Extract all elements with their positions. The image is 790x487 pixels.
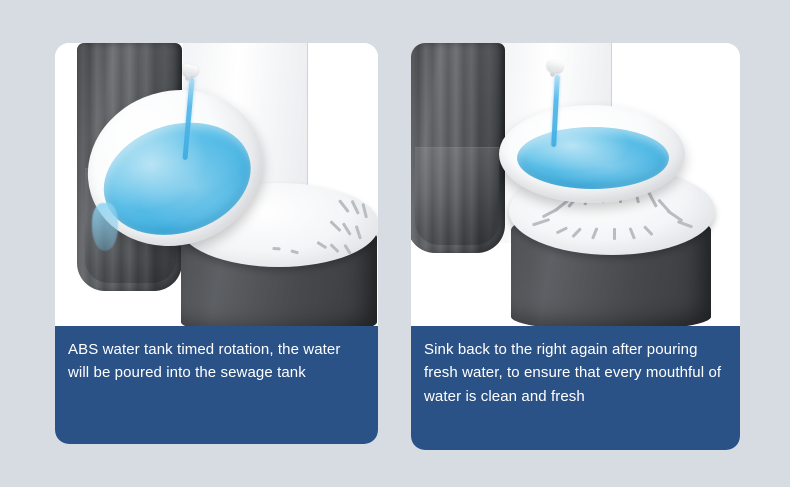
- bowl-water: [517, 127, 669, 189]
- dark-ribbed-water-tank: [411, 43, 505, 253]
- plate-slot: [355, 225, 362, 239]
- plate-slot: [571, 227, 581, 238]
- plate-slot: [629, 227, 636, 239]
- plate-slot: [338, 199, 350, 213]
- plate-slot: [290, 249, 299, 254]
- feature-card-right: Sink back to the right again after pouri…: [411, 43, 740, 450]
- plate-slot: [613, 228, 616, 240]
- product-photo-left: [55, 43, 378, 326]
- product-photo-right: [411, 43, 740, 326]
- plate-slot: [351, 200, 360, 215]
- plate-slot: [556, 226, 568, 234]
- caption-right-text: Sink back to the right again after pouri…: [424, 338, 726, 408]
- feature-panel-stage: ABS water tank timed rotation, the water…: [0, 0, 790, 487]
- plate-slot: [329, 220, 341, 232]
- plate-slot: [591, 227, 598, 239]
- caption-left-text: ABS water tank timed rotation, the water…: [68, 338, 364, 385]
- plate-slot: [272, 247, 280, 251]
- plate-slot: [643, 225, 653, 236]
- plate-slot: [532, 218, 550, 226]
- plate-slot: [677, 220, 693, 228]
- plate-slot: [342, 222, 352, 235]
- water-bowl: [499, 105, 685, 203]
- plate-slot: [647, 190, 658, 207]
- caption-right: Sink back to the right again after pouri…: [411, 326, 740, 450]
- plate-slot: [343, 244, 351, 255]
- plate-slot: [316, 241, 327, 249]
- caption-left: ABS water tank timed rotation, the water…: [55, 326, 378, 444]
- plate-slot: [330, 243, 340, 253]
- feature-card-left: ABS water tank timed rotation, the water…: [55, 43, 378, 444]
- water-spill: [92, 203, 118, 251]
- plate-slot: [361, 203, 368, 218]
